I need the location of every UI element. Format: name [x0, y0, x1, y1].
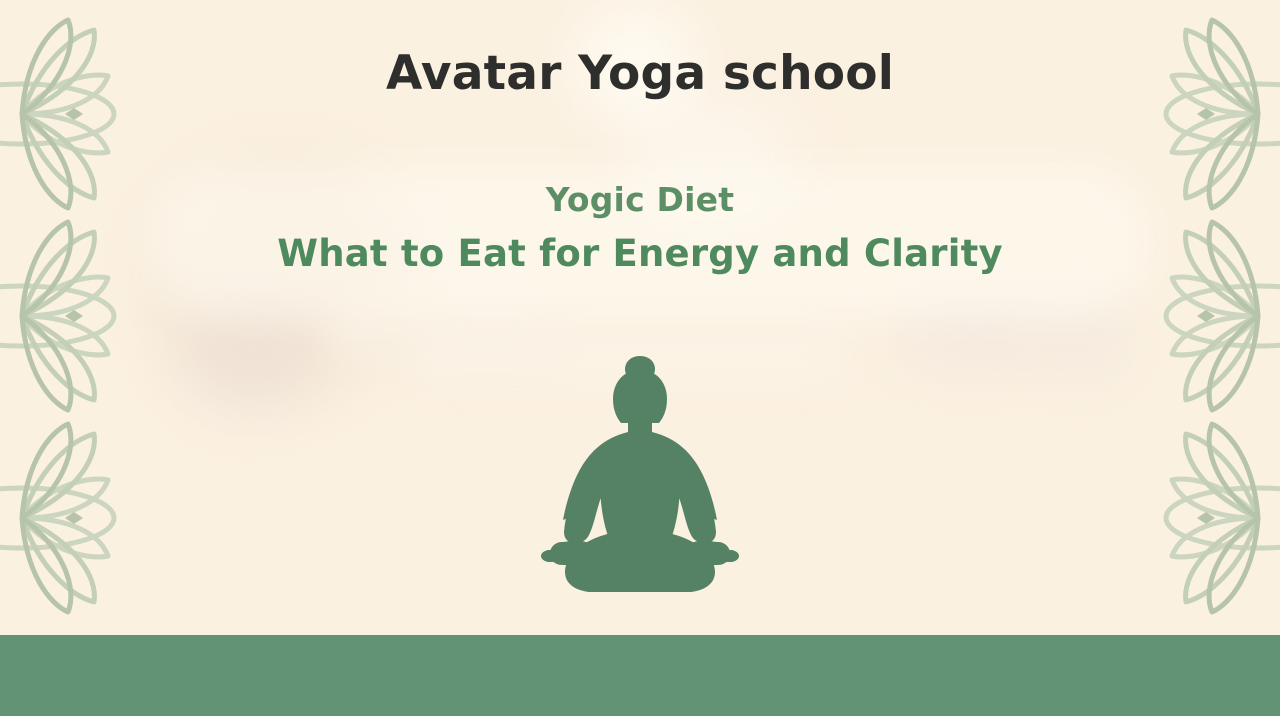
page-title: Avatar Yoga school	[0, 46, 1280, 101]
footer-band	[0, 635, 1280, 716]
subtitle-secondary: What to Eat for Energy and Clarity	[0, 224, 1280, 284]
lotus-mandala-icon	[1158, 418, 1280, 618]
subtitle-primary: Yogic Diet	[0, 176, 1280, 224]
lotus-mandala-icon	[0, 418, 122, 618]
meditating-figure-illustration	[540, 352, 740, 592]
presentation-slide: Avatar Yoga school Yogic Diet What to Ea…	[0, 0, 1280, 716]
subtitle-block: Yogic Diet What to Eat for Energy and Cl…	[0, 176, 1280, 284]
